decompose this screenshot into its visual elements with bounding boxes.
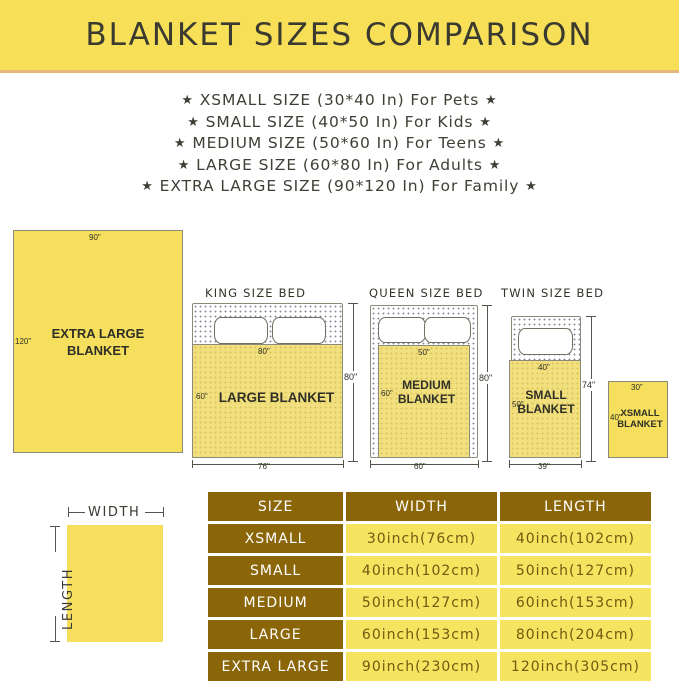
queen-medium-blanket-label-line1: MEDIUM bbox=[383, 378, 470, 392]
queen-pillow-right bbox=[424, 317, 471, 343]
table-row: SMALL 40inch(102cm) 50inch(127cm) bbox=[208, 556, 651, 585]
king-pillow-left bbox=[214, 317, 268, 344]
width-length-sample-rect bbox=[67, 525, 163, 642]
twin-bed-length-dim: 74" bbox=[582, 379, 595, 391]
width-tick-left bbox=[68, 507, 69, 517]
queen-bed-width-tick-left bbox=[370, 460, 371, 468]
length-tick-top bbox=[50, 526, 60, 527]
row-length: 50inch(127cm) bbox=[500, 556, 651, 585]
row-size: XSMALL bbox=[208, 524, 343, 553]
queen-bed-width-tick-right bbox=[478, 460, 479, 468]
row-width: 40inch(102cm) bbox=[346, 556, 497, 585]
width-label: WIDTH bbox=[88, 505, 140, 520]
twin-small-blanket-label-line1: SMALL bbox=[511, 388, 581, 402]
queen-bed-length-tick-bottom bbox=[482, 461, 492, 462]
twin-bed-width-tick-left bbox=[509, 460, 510, 468]
row-size: LARGE bbox=[208, 620, 343, 649]
king-bed-length-tick-bottom bbox=[348, 461, 358, 462]
row-length: 40inch(102cm) bbox=[500, 524, 651, 553]
twin-bed-width-tick-right bbox=[581, 460, 582, 468]
king-bed-length-tick-top bbox=[348, 303, 358, 304]
queen-bed-width-dim: 60" bbox=[414, 462, 426, 471]
queen-pillow-left bbox=[378, 317, 426, 343]
row-width: 30inch(76cm) bbox=[346, 524, 497, 553]
width-tick-right bbox=[163, 507, 164, 517]
row-width: 50inch(127cm) bbox=[346, 588, 497, 617]
length-label: LENGTH bbox=[61, 568, 76, 630]
table-row: MEDIUM 50inch(127cm) 60inch(153cm) bbox=[208, 588, 651, 617]
row-width: 60inch(153cm) bbox=[346, 620, 497, 649]
twin-bed-title: TWIN SIZE BED bbox=[501, 286, 604, 300]
xsmall-blanket-label-line2: BLANKET bbox=[612, 419, 668, 430]
table-header-length: LENGTH bbox=[500, 492, 651, 521]
table-row: LARGE 60inch(153cm) 80inch(204cm) bbox=[208, 620, 651, 649]
queen-bed-length-tick-top bbox=[482, 305, 492, 306]
xsmall-width-dim: 30" bbox=[631, 383, 643, 392]
queen-medium-blanket-label-line2: BLANKET bbox=[383, 392, 470, 406]
king-bed-width-tick-left bbox=[192, 460, 193, 468]
queen-blanket-width-dim: 50" bbox=[418, 348, 430, 357]
king-bed-title: KING SIZE BED bbox=[205, 286, 306, 300]
king-blanket-width-dim: 80" bbox=[258, 347, 270, 356]
table-header-size: SIZE bbox=[208, 492, 343, 521]
twin-blanket-width-dim: 40" bbox=[538, 363, 550, 372]
length-rule-bottom bbox=[55, 616, 56, 642]
size-table: SIZE WIDTH LENGTH XSMALL 30inch(76cm) 40… bbox=[205, 489, 654, 684]
king-bed-length-dim: 80" bbox=[344, 371, 357, 383]
length-rule-top bbox=[55, 526, 56, 552]
length-tick-bottom bbox=[50, 641, 60, 642]
xsmall-blanket-label: XSMALL BLANKET bbox=[612, 408, 668, 430]
width-rule-left bbox=[68, 512, 85, 513]
king-bed-width-dim: 76" bbox=[258, 462, 270, 471]
table-header-row: SIZE WIDTH LENGTH bbox=[208, 492, 651, 521]
twin-bed-length-tick-top bbox=[586, 316, 596, 317]
table-row: XSMALL 30inch(76cm) 40inch(102cm) bbox=[208, 524, 651, 553]
twin-pillow bbox=[518, 328, 573, 355]
xsmall-blanket-label-line1: XSMALL bbox=[612, 408, 668, 419]
queen-bed-length-dim: 80" bbox=[479, 372, 492, 384]
king-bed-width-tick-right bbox=[343, 460, 344, 468]
row-size: MEDIUM bbox=[208, 588, 343, 617]
queen-medium-blanket-label: MEDIUM BLANKET bbox=[383, 378, 470, 406]
extra-large-blanket-label-line1: EXTRA LARGE bbox=[13, 325, 183, 342]
extra-large-blanket-label-line2: BLANKET bbox=[13, 342, 183, 359]
twin-small-blanket-label-line2: BLANKET bbox=[511, 402, 581, 416]
king-blanket-length-dim: 60" bbox=[196, 392, 208, 401]
row-length: 60inch(153cm) bbox=[500, 588, 651, 617]
twin-small-blanket-label: SMALL BLANKET bbox=[511, 388, 581, 416]
twin-bed-length-tick-bottom bbox=[586, 461, 596, 462]
twin-bed-width-dim: 39" bbox=[538, 462, 550, 471]
king-large-blanket-label: LARGE BLANKET bbox=[210, 390, 343, 406]
extra-large-blanket-label: EXTRA LARGE BLANKET bbox=[13, 325, 183, 359]
king-pillow-right bbox=[272, 317, 326, 344]
width-rule-right bbox=[145, 512, 163, 513]
row-length: 80inch(204cm) bbox=[500, 620, 651, 649]
row-size: SMALL bbox=[208, 556, 343, 585]
extra-large-width-dim: 90" bbox=[89, 233, 101, 242]
queen-bed-title: QUEEN SIZE BED bbox=[369, 286, 484, 300]
table-header-width: WIDTH bbox=[346, 492, 497, 521]
